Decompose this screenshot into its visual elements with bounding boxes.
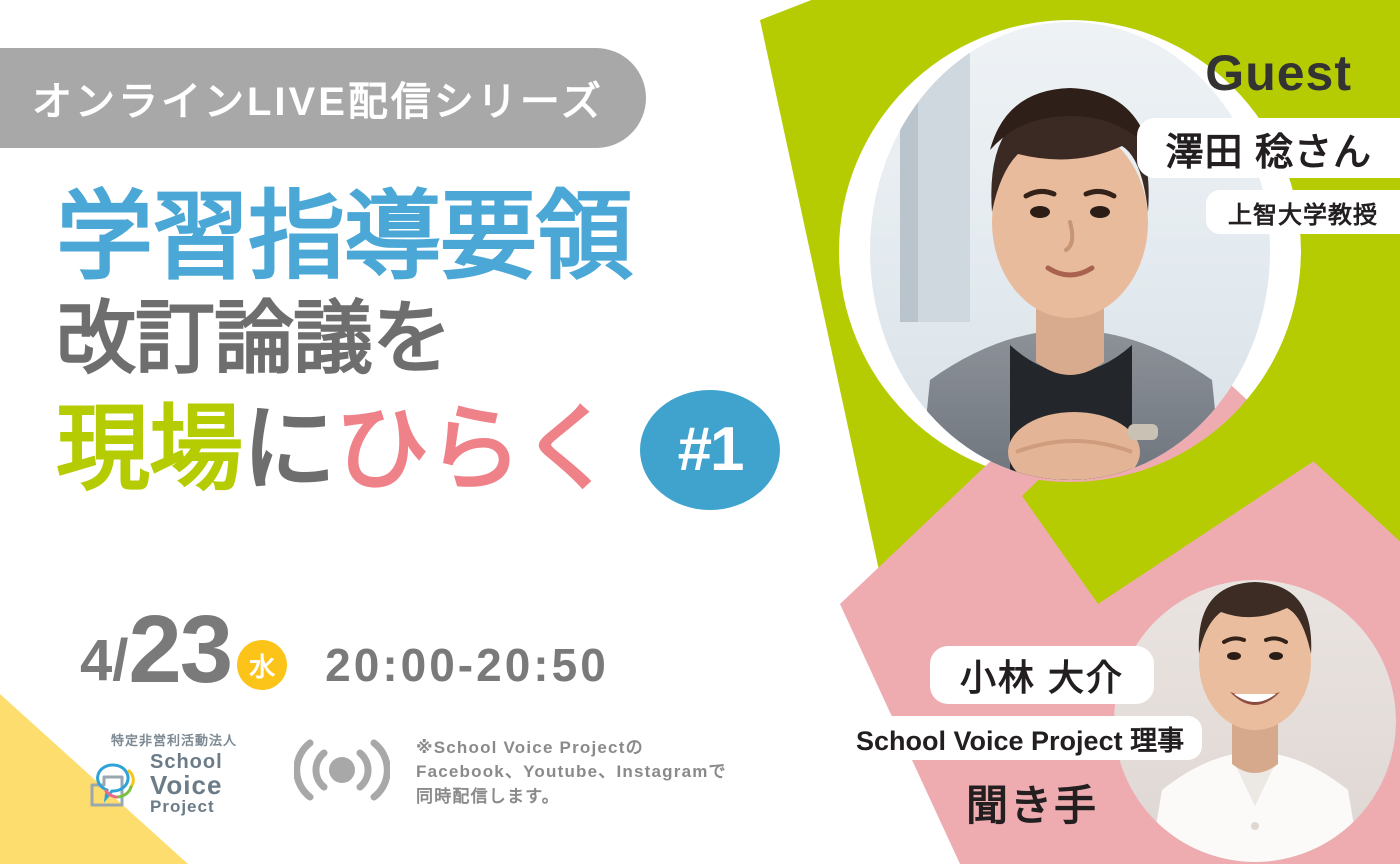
school-voice-project-logo: 特定非営利活動法人 School Voice Project <box>84 730 264 815</box>
broadcast-icon <box>294 735 390 810</box>
guest-title-badge: 上智大学教授 <box>1206 190 1400 234</box>
simulcast-note-line-3: 同時配信します。 <box>416 785 727 810</box>
event-month: 4/ <box>80 632 128 690</box>
guest-name-badge: 澤田 稔さん <box>1137 118 1400 178</box>
logo-line-school: School <box>150 752 223 772</box>
event-time: 20:00-20:50 <box>325 638 609 692</box>
event-day-of-week-badge: 水 <box>237 640 287 690</box>
title-line-3: 現場 に ひらく #1 <box>56 390 780 510</box>
simulcast-note-line-2: Facebook、Youtube、Instagramで <box>416 760 727 785</box>
guest-label: Guest <box>1205 44 1352 102</box>
episode-number-badge: #1 <box>640 390 780 510</box>
series-banner-label: オンラインLIVE配信シリーズ <box>32 69 604 127</box>
school-voice-mark-icon <box>84 753 146 815</box>
logo-line-project: Project <box>150 798 223 815</box>
title-line-1: 学習指導要領 <box>56 188 780 285</box>
title-line-3-green: 現場 <box>56 400 242 499</box>
event-datetime: 4/ 23 水 20:00-20:50 <box>80 602 609 698</box>
host-name-badge: 小林 大介 <box>930 646 1154 704</box>
page-title: 学習指導要領 改訂論議を 現場 に ひらく #1 <box>56 188 780 510</box>
logo-line-voice: Voice <box>150 772 223 798</box>
simulcast-note-line-1: ※School Voice Projectの <box>416 736 727 761</box>
host-role-badge: School Voice Project 理事 <box>838 716 1202 760</box>
title-line-2: 改訂論議を <box>56 297 780 382</box>
footer: 特定非営利活動法人 School Voice Project <box>84 730 727 815</box>
event-day: 23 <box>128 602 231 698</box>
org-type-label: 特定非営利活動法人 <box>84 730 264 749</box>
host-kicker-label: 聞き手 <box>966 772 1098 833</box>
title-line-3-gray: に <box>242 400 335 499</box>
series-banner: オンラインLIVE配信シリーズ <box>0 48 646 148</box>
title-line-3-pink: ひらく <box>335 400 614 499</box>
simulcast-note: ※School Voice Projectの Facebook、Youtube、… <box>416 736 727 810</box>
